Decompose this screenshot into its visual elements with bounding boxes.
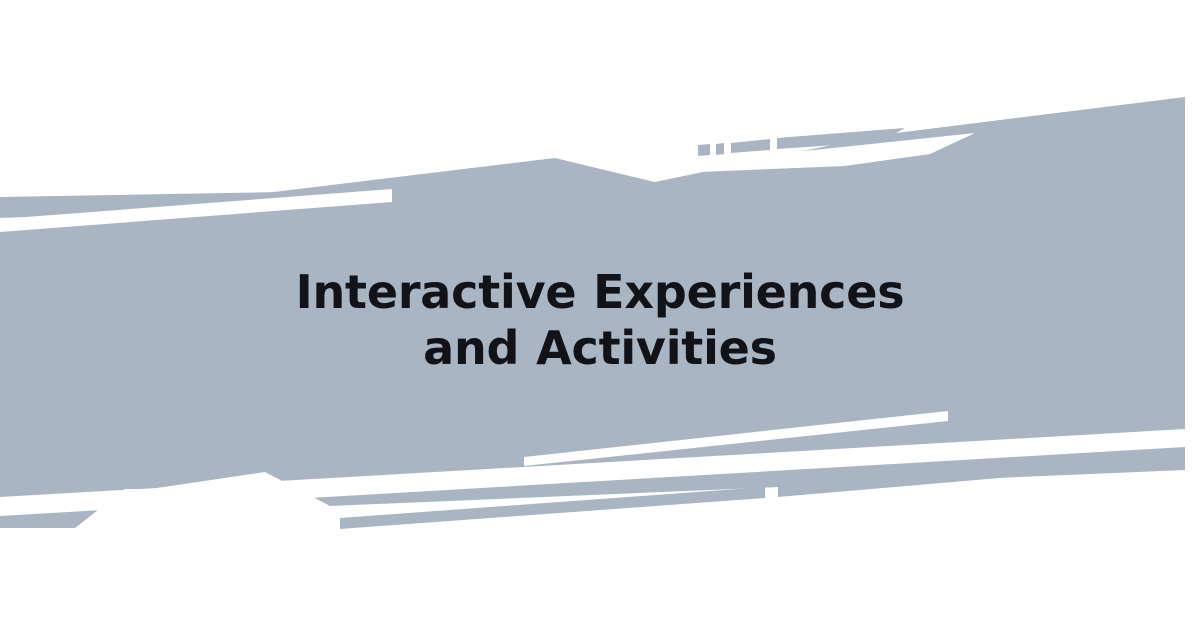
banner-card: Interactive Experiences and Activities: [0, 0, 1200, 630]
banner-decorative-artwork: [0, 0, 1200, 630]
top-dash-mark-1: [698, 144, 710, 156]
top-dash-mark-3: [731, 139, 770, 153]
top-dash-mark-2: [716, 143, 724, 155]
